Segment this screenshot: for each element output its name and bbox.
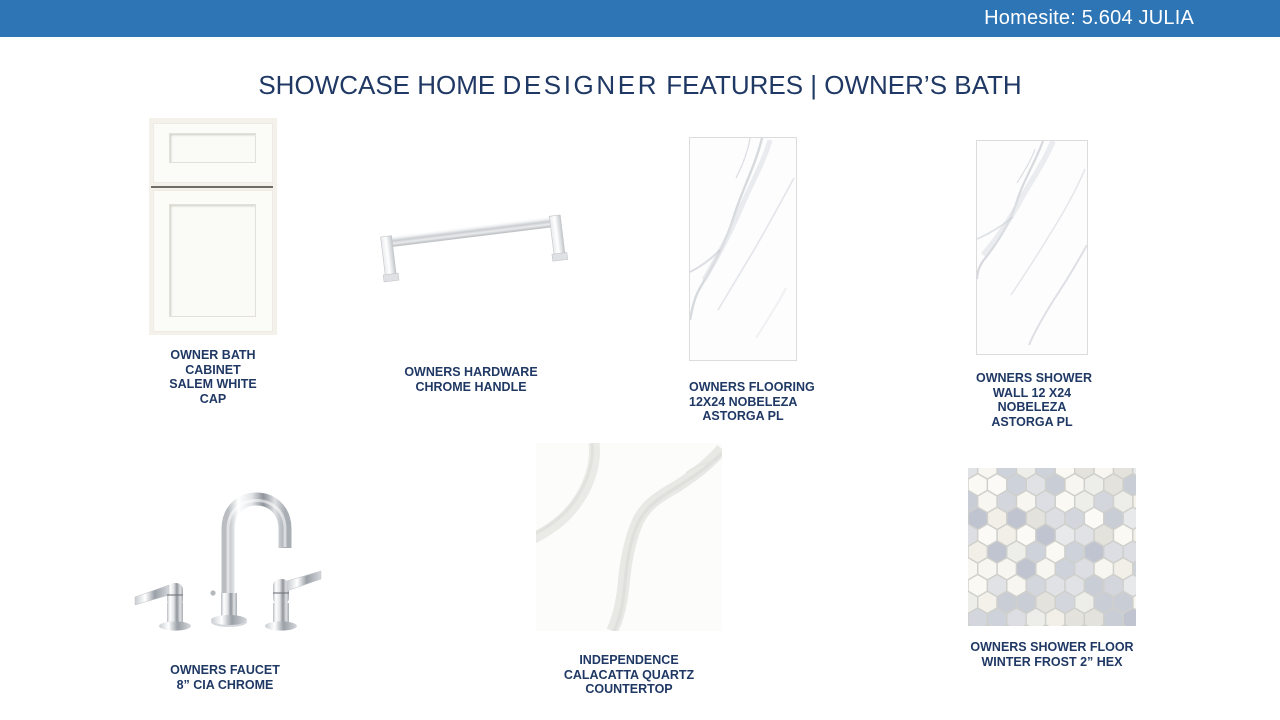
- cabinet-drawer-panel: [169, 133, 256, 163]
- item-owners-hardware[interactable]: OWNERS HARDWARE CHROME HANDLE: [371, 130, 571, 394]
- faucet-icon: [125, 443, 325, 638]
- marble-veining-graphic: [690, 138, 797, 361]
- caption-owner-bath-cabinet: OWNER BATH CABINET SALEM WHITE CAP: [149, 348, 277, 406]
- page-title: SHOWCASE HOME DESIGNER FEATURES | OWNER’…: [0, 70, 1280, 101]
- cabinet-door-panel: [169, 204, 256, 317]
- title-segment-designer: DESIGNER: [502, 70, 659, 100]
- hex-mosaic-image: [968, 468, 1136, 626]
- quartz-slab-image: [536, 443, 722, 631]
- title-segment-2: FEATURES | OWNER’S BATH: [659, 70, 1022, 100]
- item-independence-countertop[interactable]: INDEPENDENCE CALACATTA QUARTZ COUNTERTOP: [536, 443, 722, 697]
- caption-independence-countertop: INDEPENDENCE CALACATTA QUARTZ COUNTERTOP: [536, 653, 722, 697]
- caption-owners-faucet: OWNERS FAUCET 8” CIA CHROME: [125, 663, 325, 692]
- chrome-faucet-image: [125, 443, 325, 638]
- item-owners-faucet[interactable]: OWNERS FAUCET 8” CIA CHROME: [125, 443, 325, 692]
- quartz-veining-graphic: [536, 443, 722, 631]
- marble-tile-shower-wall-image: [976, 140, 1088, 355]
- caption-owners-flooring: OWNERS FLOORING 12X24 NOBELEZA ASTORGA P…: [689, 380, 797, 424]
- homesite-label: Homesite: 5.604 JULIA: [984, 7, 1194, 30]
- marble-tile-flooring-image: [689, 137, 797, 361]
- cabinet-divider-line: [151, 186, 273, 188]
- marble-veining-graphic: [977, 141, 1088, 355]
- cabinet-swatch-image: [149, 118, 277, 335]
- item-owners-flooring[interactable]: OWNERS FLOORING 12X24 NOBELEZA ASTORGA P…: [689, 137, 797, 424]
- title-segment-1: SHOWCASE HOME: [258, 70, 502, 100]
- caption-owners-shower-wall: OWNERS SHOWER WALL 12 X24 NOBELEZA ASTOR…: [976, 371, 1088, 429]
- item-owners-shower-floor[interactable]: OWNERS SHOWER FLOOR WINTER FROST 2” HEX: [968, 468, 1136, 669]
- item-owner-bath-cabinet[interactable]: OWNER BATH CABINET SALEM WHITE CAP: [149, 118, 277, 406]
- chrome-bar-pull-handle-image: [371, 130, 571, 335]
- handle-icon: [371, 130, 571, 335]
- item-owners-shower-wall[interactable]: OWNERS SHOWER WALL 12 X24 NOBELEZA ASTOR…: [976, 140, 1088, 429]
- hex-mosaic-graphic: [968, 468, 1136, 626]
- caption-owners-shower-floor: OWNERS SHOWER FLOOR WINTER FROST 2” HEX: [968, 640, 1136, 669]
- caption-owners-hardware: OWNERS HARDWARE CHROME HANDLE: [371, 365, 571, 394]
- slide-canvas: Homesite: 5.604 JULIA SHOWCASE HOME DESI…: [0, 0, 1280, 720]
